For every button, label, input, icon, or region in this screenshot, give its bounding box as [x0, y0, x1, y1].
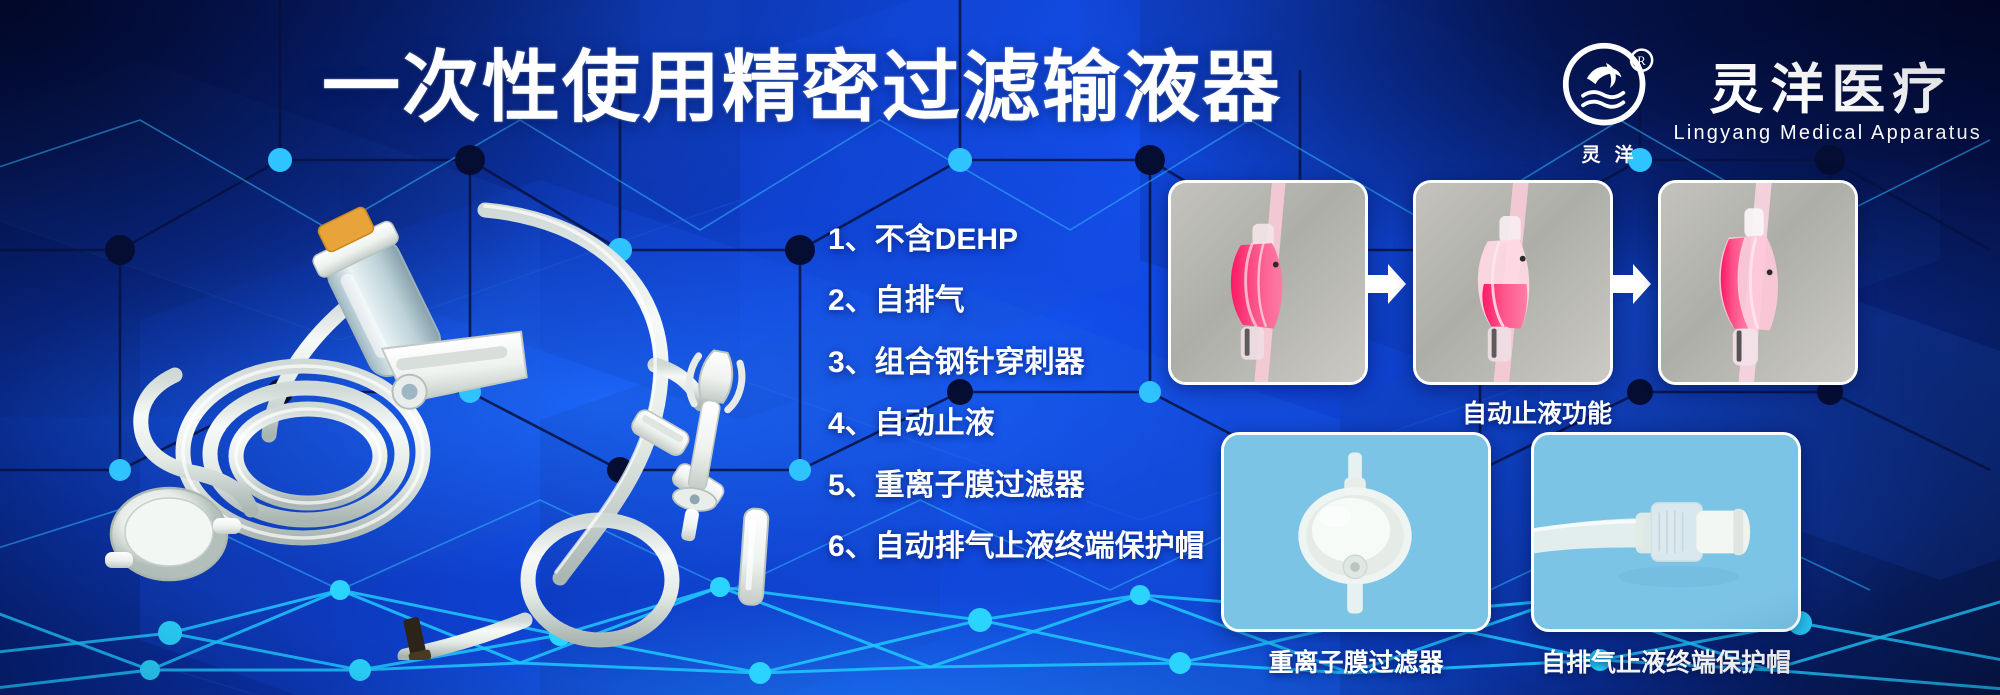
banner-title: 一次性使用精密过滤输液器 [322, 48, 1282, 126]
brand-text: 灵洋医疗 Lingyang Medical Apparatus [1674, 62, 1982, 146]
feature-item-5: 5、重离子膜过滤器 [828, 468, 1205, 503]
logo-emblem-label: 灵洋 [1568, 140, 1648, 167]
brand-name-cn: 灵洋医疗 [1702, 62, 1953, 119]
sequence-arrow-1-icon [1366, 262, 1408, 306]
svg-text:R: R [1637, 54, 1646, 68]
feature-panel-filter [1221, 432, 1491, 632]
sequence-arrow-2-icon [1611, 262, 1653, 306]
drip-chamber-stopped-photo [1661, 183, 1855, 382]
brand-name-en: Lingyang Medical Apparatus [1674, 122, 1982, 145]
logo-emblem: R 灵洋 [1560, 40, 1656, 167]
sequence-frame-2 [1413, 180, 1613, 385]
lingyang-seal-icon: R [1560, 40, 1656, 136]
feature-item-3: 3、组合钢针穿刺器 [828, 345, 1205, 380]
feature-item-2: 2、自排气 [828, 283, 1205, 318]
feature-panel-cap-caption: 自排气止液终端保护帽 [1531, 643, 1801, 679]
product-photo-infusion-set [55, 190, 795, 660]
drip-chamber-half-photo [1416, 183, 1610, 382]
feature-item-4: 4、自动止液 [828, 406, 1205, 441]
feature-panel-cap [1531, 432, 1801, 632]
feature-item-1: 1、不含DEHP [828, 222, 1205, 257]
sequence-frame-3 [1658, 180, 1858, 385]
sequence-caption: 自动止液功能 [1184, 394, 1890, 430]
brand-logo: R 灵洋 灵洋医疗 Lingyang Medical Apparatus [1560, 40, 1982, 167]
feature-panel-filter-caption: 重离子膜过滤器 [1221, 643, 1491, 679]
feature-item-6: 6、自动排气止液终端保护帽 [828, 529, 1205, 564]
feature-list: 1、不含DEHP 2、自排气 3、组合钢针穿刺器 4、自动止液 5、重离子膜过滤… [828, 222, 1205, 564]
promo-banner: 一次性使用精密过滤输液器 R 灵洋 灵洋医疗 Lingyang Medical … [0, 0, 2000, 695]
heavy-ion-membrane-filter-photo [1224, 435, 1488, 629]
self-venting-terminal-cap-photo [1534, 435, 1798, 629]
